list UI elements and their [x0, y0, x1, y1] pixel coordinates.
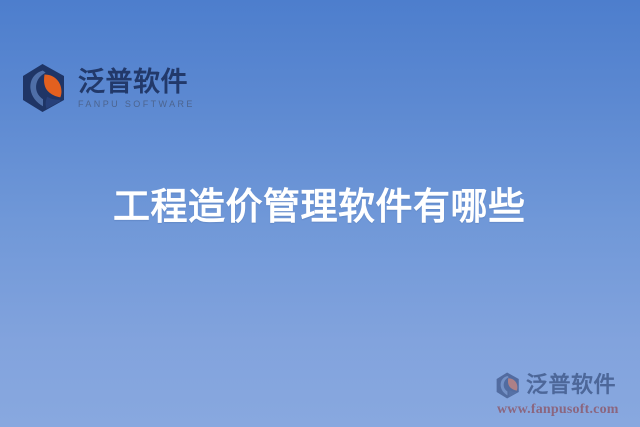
brand-text-block: 泛普软件 FANPU SOFTWARE — [78, 67, 195, 109]
brand-name-cn: 泛普软件 — [78, 69, 195, 97]
watermark: 泛普软件 www.fanpusoft.com — [496, 372, 632, 417]
promo-banner: 泛普软件 FANPU SOFTWARE 工程造价管理软件有哪些 泛普软件 www… — [0, 0, 640, 427]
fanpu-hexagon-logo-icon — [496, 372, 521, 399]
headline-title: 工程造价管理软件有哪些 — [113, 186, 526, 227]
fanpu-hexagon-logo-icon — [22, 63, 68, 113]
brand-logo: 泛普软件 FANPU SOFTWARE — [22, 63, 195, 113]
watermark-url: www.fanpusoft.com — [497, 403, 619, 417]
watermark-logo-row: 泛普软件 — [496, 372, 616, 399]
brand-name-en: FANPU SOFTWARE — [78, 100, 195, 109]
watermark-name-cn: 泛普软件 — [526, 375, 616, 397]
